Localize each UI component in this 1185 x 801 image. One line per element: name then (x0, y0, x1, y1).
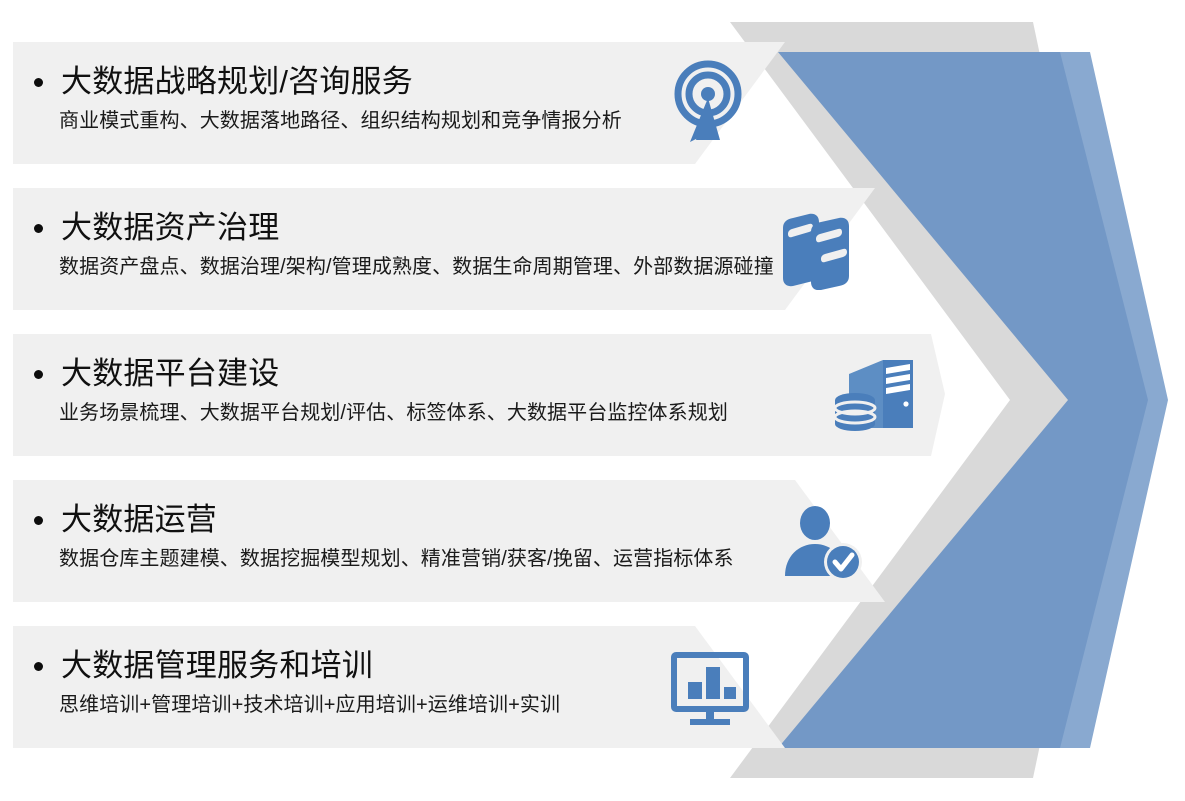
item-subtitle: 思维培训+管理培训+技术培训+应用培训+运维培训+实训 (59, 692, 560, 718)
bullet-point (34, 224, 43, 233)
books-icon (775, 210, 861, 290)
monitor-chart-icon (668, 652, 752, 728)
server-database-icon (831, 356, 919, 438)
item-title: 大数据管理服务和培训 (61, 648, 373, 684)
process-item-1[interactable]: 大数据战略规划/咨询服务 商业模式重构、大数据落地路径、组织结构规划和竞争情报分… (13, 42, 785, 164)
item-title: 大数据运营 (61, 502, 217, 538)
item-title: 大数据战略规划/咨询服务 (61, 64, 413, 100)
item-subtitle: 数据仓库主题建模、数据挖掘模型规划、精准营销/获客/挽留、运营指标体系 (59, 546, 734, 572)
process-item-5[interactable]: 大数据管理服务和培训 思维培训+管理培训+技术培训+应用培训+运维培训+实训 (13, 626, 785, 748)
bullet-point (34, 662, 43, 671)
process-item-3[interactable]: 大数据平台建设 业务场景梳理、大数据平台规划/评估、标签体系、大数据平台监控体系… (13, 334, 945, 456)
process-item-4[interactable]: 大数据运营 数据仓库主题建模、数据挖掘模型规划、精准营销/获客/挽留、运营指标体… (13, 480, 885, 602)
bullet-point (34, 370, 43, 379)
bullet-point (34, 78, 43, 87)
item-subtitle: 数据资产盘点、数据治理/架构/管理成熟度、数据生命周期管理、外部数据源碰撞 (59, 254, 774, 280)
item-subtitle: 商业模式重构、大数据落地路径、组织结构规划和竞争情报分析 (59, 108, 622, 134)
process-item-2[interactable]: 大数据资产治理 数据资产盘点、数据治理/架构/管理成熟度、数据生命周期管理、外部… (13, 188, 875, 310)
item-title: 大数据平台建设 (61, 356, 279, 392)
process-item-list: 大数据战略规划/咨询服务 商业模式重构、大数据落地路径、组织结构规划和竞争情报分… (0, 0, 1185, 801)
user-verified-icon (781, 506, 867, 582)
item-subtitle: 业务场景梳理、大数据平台规划/评估、标签体系、大数据平台监控体系规划 (59, 400, 728, 426)
item-title: 大数据资产治理 (61, 210, 279, 246)
bullet-point (34, 516, 43, 525)
slide-canvas: 大数据战略规划/咨询服务 商业模式重构、大数据落地路径、组织结构规划和竞争情报分… (0, 0, 1185, 801)
broadcast-antenna-icon (668, 60, 748, 146)
